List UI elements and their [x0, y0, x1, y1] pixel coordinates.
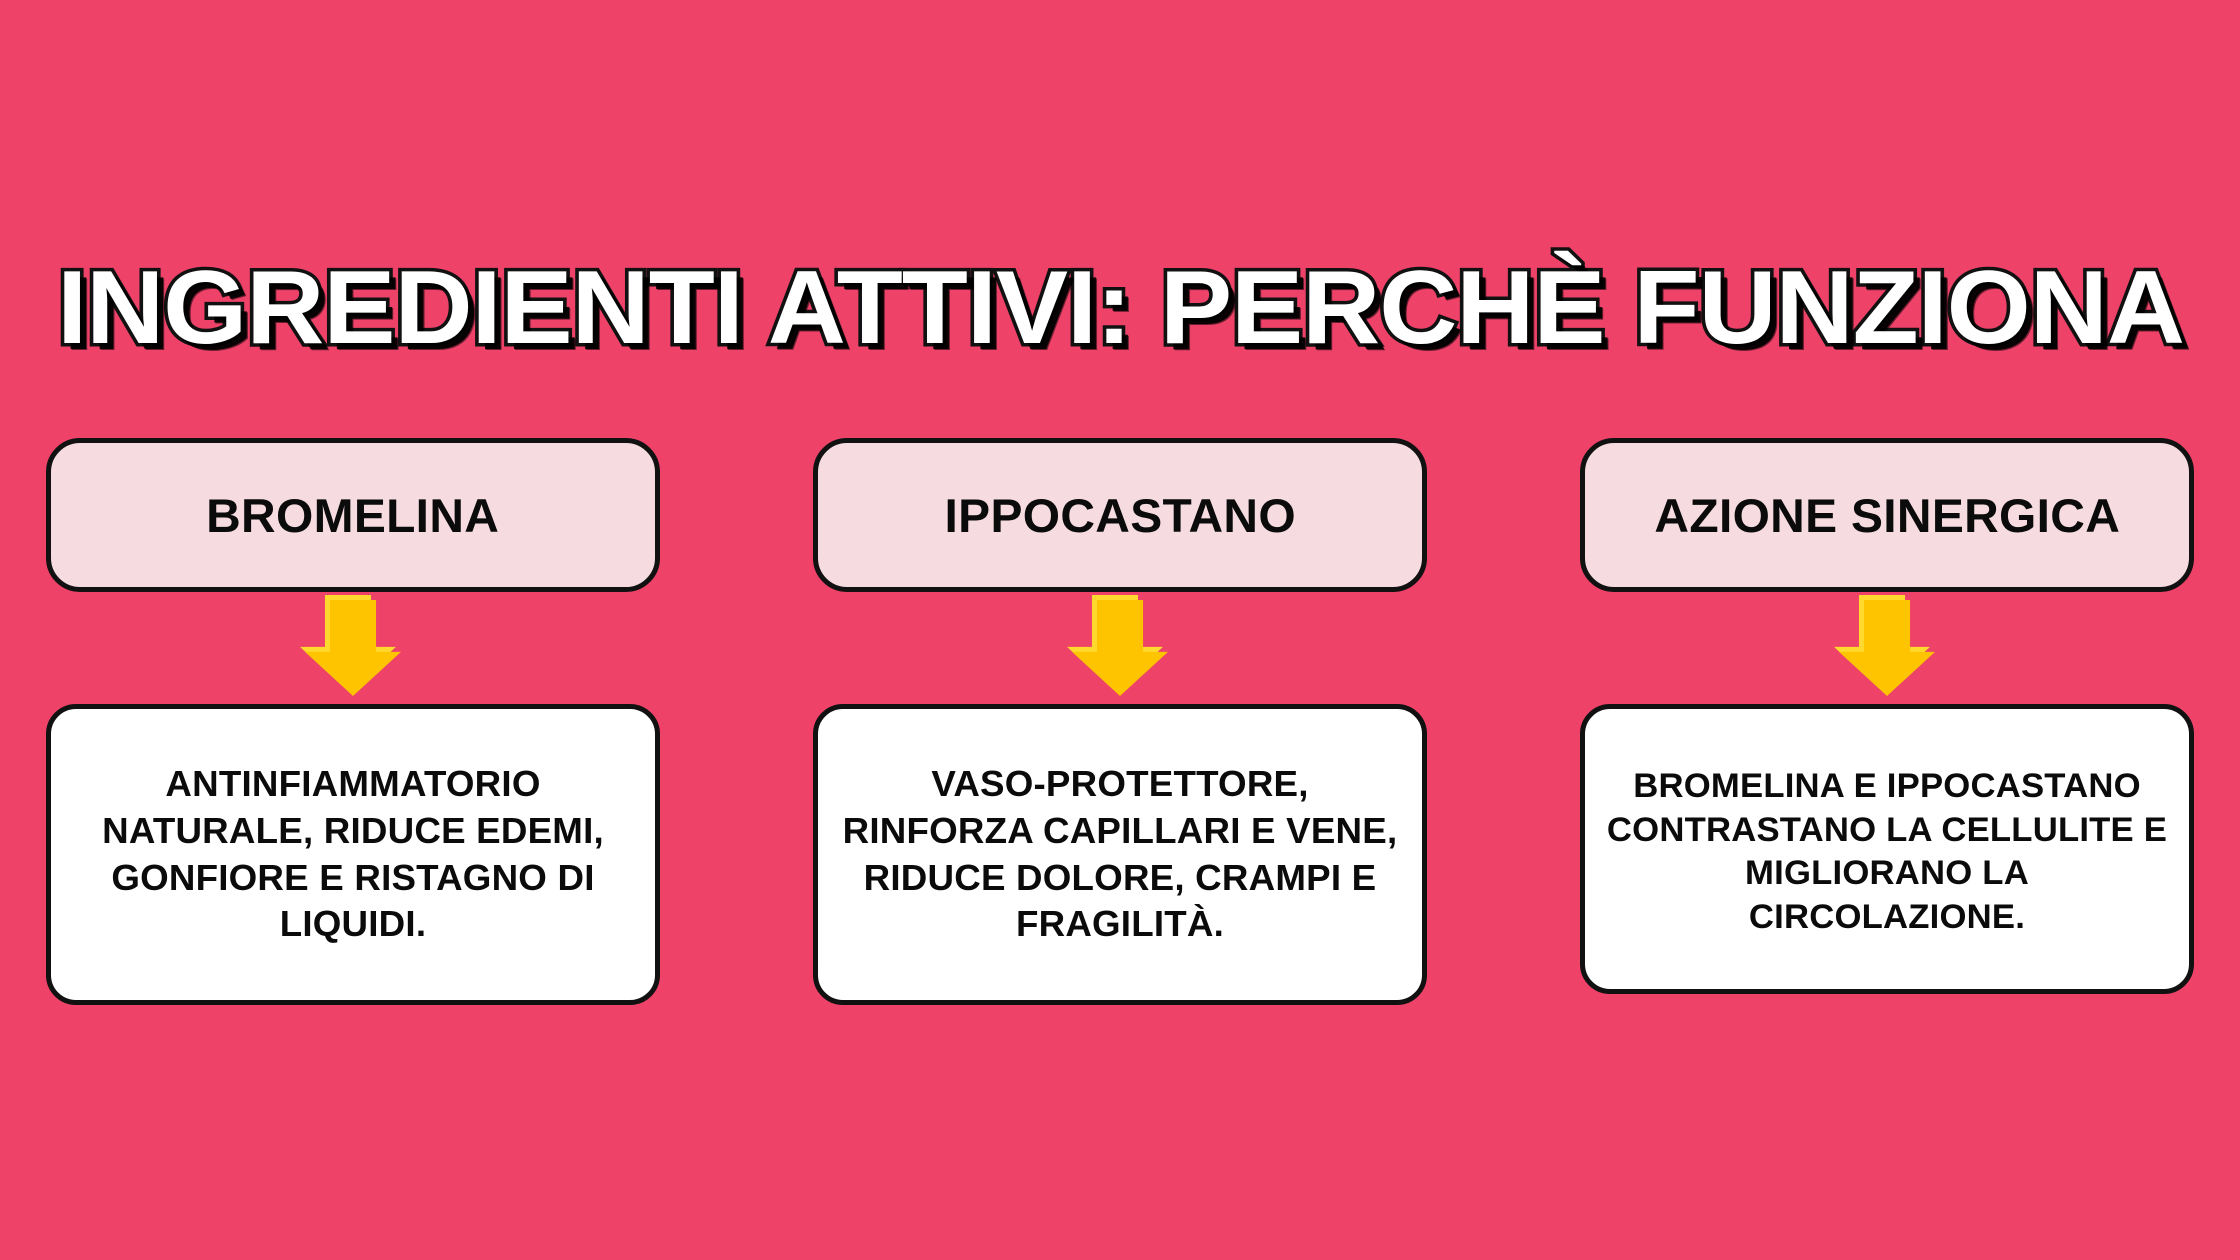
- description-card-ippocastano: VASO-PROTETTORE, RINFORZA CAPILLARI E VE…: [813, 704, 1427, 1005]
- header-label: AZIONE SINERGICA: [1654, 488, 2120, 543]
- description-card-bromelina: ANTINFIAMMATORIO NATURALE, RIDUCE EDEMI,…: [46, 704, 660, 1005]
- description-text: VASO-PROTETTORE, RINFORZA CAPILLARI E VE…: [838, 761, 1401, 948]
- ingredient-column-bromelina: BROMELINA ANTINFIAMMATORIO NATURALE, RID…: [46, 438, 660, 1018]
- header-pill-ippocastano[interactable]: IPPOCASTANO: [813, 438, 1427, 592]
- ingredient-column-azione-sinergica: AZIONE SINERGICA BROMELINA E IPPOCASTANO…: [1580, 438, 2194, 1018]
- arrow-slot: [1580, 592, 2194, 704]
- header-label: IPPOCASTANO: [944, 488, 1295, 543]
- description-text: ANTINFIAMMATORIO NATURALE, RIDUCE EDEMI,…: [71, 761, 634, 948]
- description-text: BROMELINA E IPPOCASTANO CONTRASTANO LA C…: [1605, 765, 2168, 939]
- header-pill-azione-sinergica[interactable]: AZIONE SINERGICA: [1580, 438, 2194, 592]
- description-card-azione-sinergica: BROMELINA E IPPOCASTANO CONTRASTANO LA C…: [1580, 704, 2194, 994]
- ingredient-column-ippocastano: IPPOCASTANO VASO-PROTETTORE, RINFORZA CA…: [813, 438, 1427, 1018]
- header-pill-bromelina[interactable]: BROMELINA: [46, 438, 660, 592]
- page-title: INGREDIENTI ATTIVI: PERCHÈ FUNZIONA: [57, 256, 2184, 360]
- arrow-down-icon: [1072, 600, 1168, 696]
- arrow-down-icon: [1839, 600, 1935, 696]
- ingredient-columns: BROMELINA ANTINFIAMMATORIO NATURALE, RID…: [46, 438, 2194, 1018]
- page-title-container: INGREDIENTI ATTIVI: PERCHÈ FUNZIONA: [0, 186, 2240, 429]
- infographic-poster: INGREDIENTI ATTIVI: PERCHÈ FUNZIONA BROM…: [0, 0, 2240, 1260]
- arrow-down-icon: [305, 600, 401, 696]
- header-label: BROMELINA: [206, 488, 499, 543]
- arrow-slot: [813, 592, 1427, 704]
- arrow-slot: [46, 592, 660, 704]
